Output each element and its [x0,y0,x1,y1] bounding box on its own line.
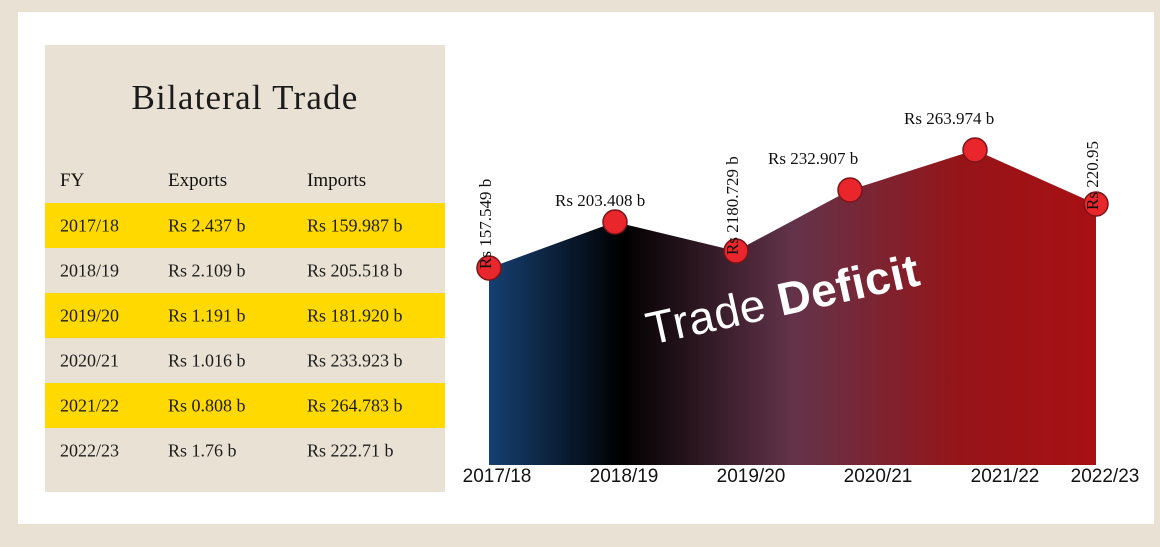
table-row: 2021/22 Rs 0.808 b Rs 264.783 b [45,383,445,428]
cell-exports: Rs 2.109 b [168,260,246,281]
data-point-label: Rs 2180.729 b [723,156,743,255]
x-axis-tick: 2018/19 [590,466,659,488]
data-point-marker [963,138,987,162]
cell-exports: Rs 2.437 b [168,215,246,236]
cell-exports: Rs 1.016 b [168,350,246,371]
cell-exports: Rs 1.191 b [168,305,246,326]
data-point-label: Rs 263.974 b [904,109,994,129]
x-axis-tick: 2017/18 [463,466,532,488]
cell-exports: Rs 1.76 b [168,440,237,461]
bilateral-trade-panel: Bilateral Trade FY Exports Imports 2017/… [45,45,445,492]
trade-deficit-chart: Rs 157.549 b Rs 203.408 b Rs 2180.729 b … [455,45,1145,495]
data-point-label: Rs 220.95 [1083,141,1103,210]
x-axis: 2017/18 2018/19 2019/20 2020/21 2021/22 … [455,466,1145,498]
column-header-imports: Imports [307,170,366,192]
cell-imports: Rs 222.71 b [307,440,394,461]
cell-fy: 2017/18 [60,215,119,236]
x-axis-tick: 2022/23 [1071,466,1140,488]
data-point-label: Rs 157.549 b [476,179,496,269]
data-point-label: Rs 232.907 b [768,149,858,169]
cell-imports: Rs 205.518 b [307,260,403,281]
cell-imports: Rs 233.923 b [307,350,403,371]
column-header-exports: Exports [168,170,227,192]
cell-imports: Rs 181.920 b [307,305,403,326]
cell-imports: Rs 159.987 b [307,215,403,236]
table-header-row: FY Exports Imports [45,158,445,203]
data-point-label: Rs 203.408 b [555,191,645,211]
data-point-marker [838,178,862,202]
cell-fy: 2020/21 [60,350,119,371]
cell-fy: 2021/22 [60,395,119,416]
table-row: 2019/20 Rs 1.191 b Rs 181.920 b [45,293,445,338]
cell-fy: 2022/23 [60,440,119,461]
cell-imports: Rs 264.783 b [307,395,403,416]
x-axis-tick: 2020/21 [844,466,913,488]
table-row: 2018/19 Rs 2.109 b Rs 205.518 b [45,248,445,293]
table-row: 2017/18 Rs 2.437 b Rs 159.987 b [45,203,445,248]
x-axis-tick: 2021/22 [971,466,1040,488]
cell-exports: Rs 0.808 b [168,395,246,416]
column-header-fy: FY [60,170,84,192]
data-point-marker [603,210,627,234]
infographic-root: Bilateral Trade FY Exports Imports 2017/… [0,0,1160,547]
x-axis-tick: 2019/20 [717,466,786,488]
table-row: 2022/23 Rs 1.76 b Rs 222.71 b [45,428,445,473]
panel-title: Bilateral Trade [45,78,445,118]
area-chart-plot [455,45,1145,475]
cell-fy: 2019/20 [60,305,119,326]
table-row: 2020/21 Rs 1.016 b Rs 233.923 b [45,338,445,383]
cell-fy: 2018/19 [60,260,119,281]
